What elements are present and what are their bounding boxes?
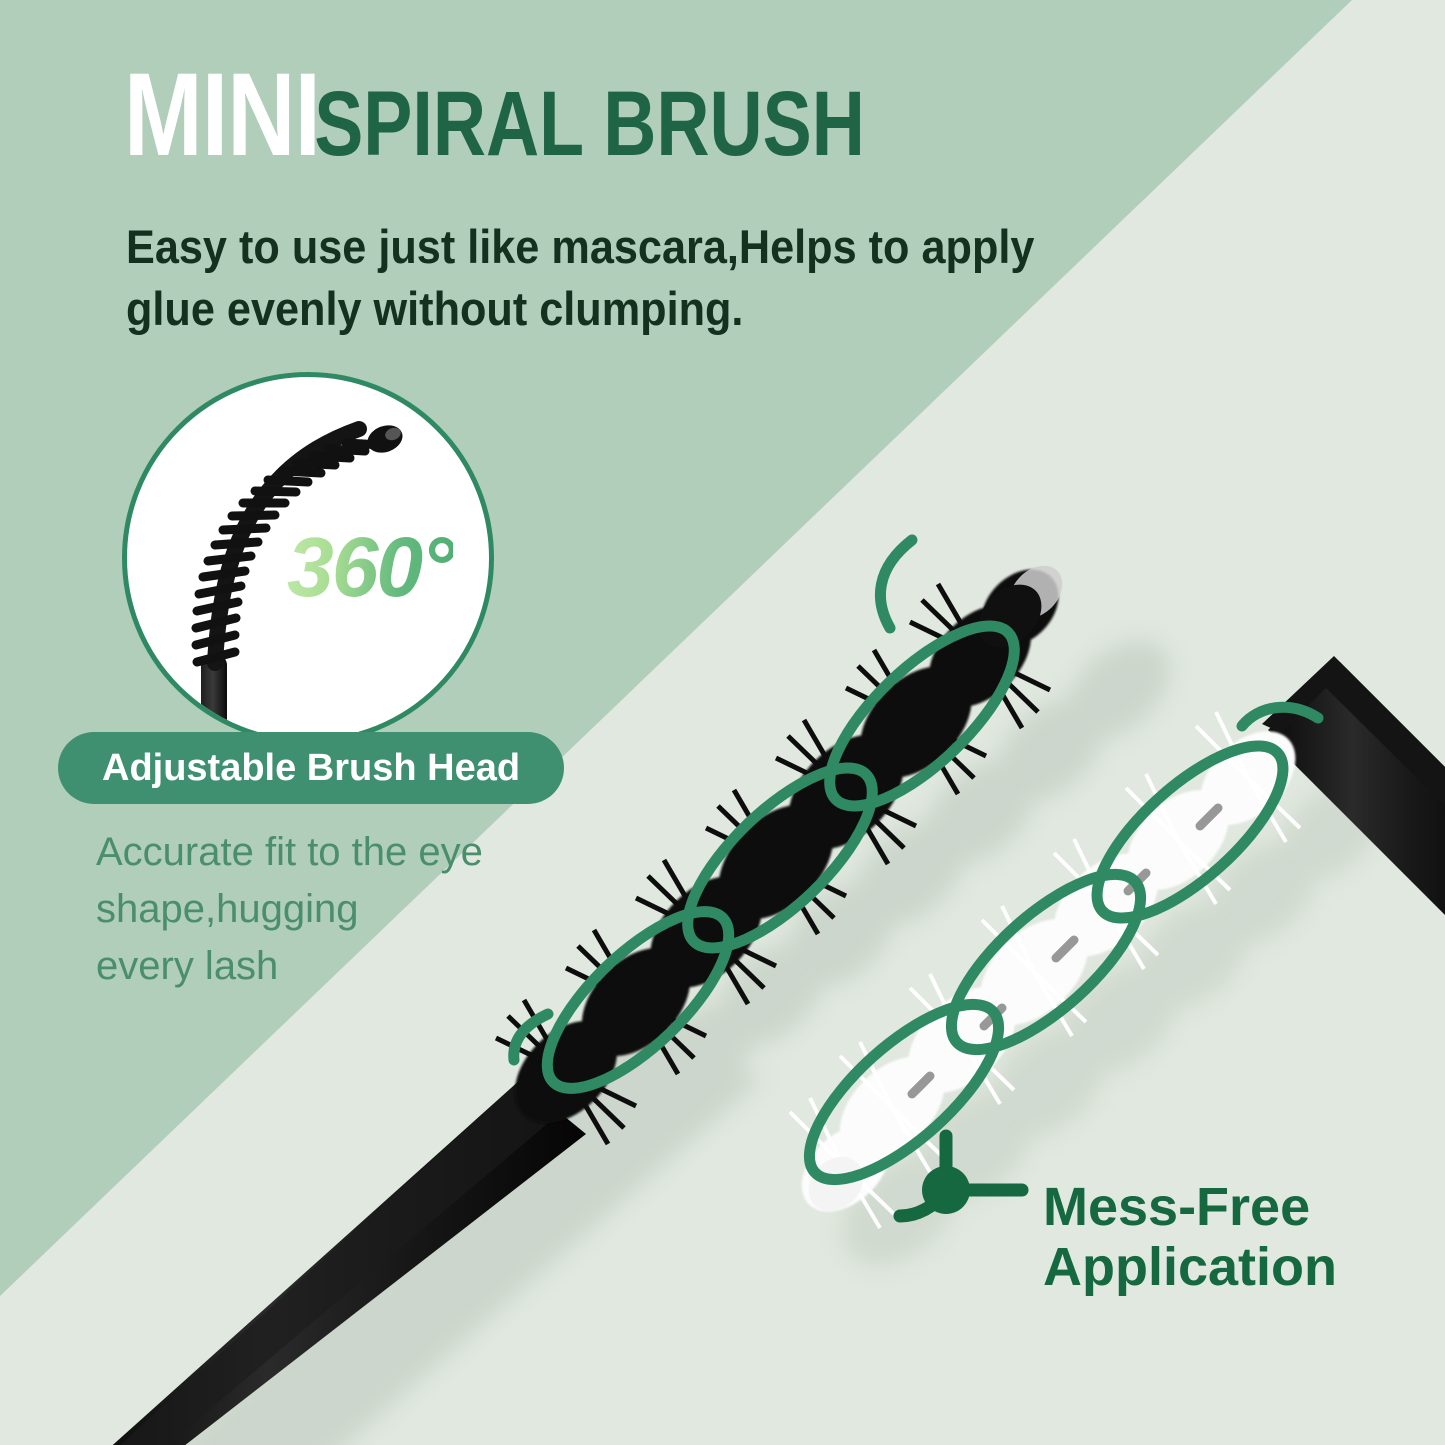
caption-line-3: every lash (96, 944, 278, 988)
callout-line-1: Mess-Free (1043, 1177, 1310, 1237)
feature-caption: Accurate fit to the eye shape,hugging ev… (96, 824, 526, 994)
caption-line-2: shape,hugging (96, 887, 358, 931)
caption-line-1: Accurate fit to the eye (96, 830, 483, 874)
mess-free-application-callout: Mess-Free Application (1043, 1177, 1373, 1298)
degree-label: 360° (287, 525, 453, 609)
badge-label: Adjustable Brush Head (102, 749, 520, 787)
feature-circle-360: 360° (122, 372, 494, 744)
callout-line-2: Application (1043, 1237, 1373, 1297)
page-title: MINI SPIRAL BRUSH (124, 56, 1009, 174)
title-secondary: SPIRAL BRUSH (287, 78, 865, 170)
adjustable-brush-head-badge: Adjustable Brush Head (58, 732, 564, 804)
product-infographic: MINI SPIRAL BRUSH Easy to use just like … (0, 0, 1445, 1445)
subtitle-text: Easy to use just like mascara,Helps to a… (126, 216, 1046, 340)
